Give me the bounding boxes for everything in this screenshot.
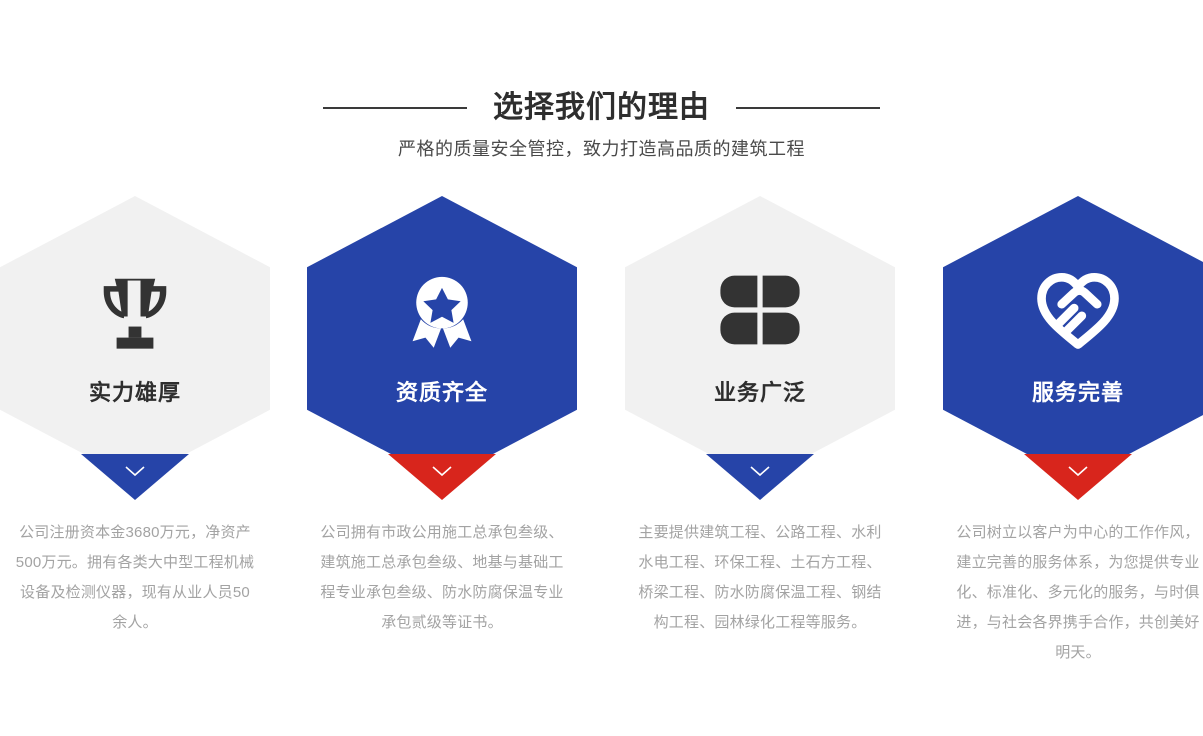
card-pointer-2 bbox=[388, 454, 496, 500]
card-pointer-3 bbox=[706, 454, 814, 500]
heart-handshake-icon bbox=[1026, 258, 1130, 362]
card-pointer-1 bbox=[81, 454, 189, 500]
title-rule-right-icon bbox=[736, 107, 880, 109]
card-label-1: 实力雄厚 bbox=[0, 378, 270, 408]
card-label-4: 服务完善 bbox=[943, 378, 1203, 408]
hexagon-wrap-4: 服务完善 bbox=[943, 196, 1203, 481]
feature-card-1[interactable]: 实力雄厚 公司注册资本金3680万元，净资产500万元。拥有各类大中型工程机械设… bbox=[0, 196, 270, 696]
hexagon-wrap-1: 实力雄厚 bbox=[0, 196, 270, 481]
hexagon-wrap-2: 资质齐全 bbox=[307, 196, 577, 481]
medal-star-icon bbox=[390, 258, 494, 362]
feature-cards: 实力雄厚 公司注册资本金3680万元，净资产500万元。拥有各类大中型工程机械设… bbox=[0, 196, 1203, 696]
feature-card-3[interactable]: 业务广泛 主要提供建筑工程、公路工程、水利水电工程、环保工程、土石方工程、桥梁工… bbox=[625, 196, 895, 696]
card-label-3: 业务广泛 bbox=[625, 378, 895, 408]
card-description-4: 公司树立以客户为中心的工作作风，建立完善的服务体系，为您提供专业化、标准化、多元… bbox=[956, 518, 1200, 668]
card-pointer-4 bbox=[1024, 454, 1132, 500]
title-rule-left-icon bbox=[323, 107, 467, 109]
page-subtitle: 严格的质量安全管控，致力打造高品质的建筑工程 bbox=[0, 136, 1203, 162]
card-description-1: 公司注册资本金3680万元，净资产500万元。拥有各类大中型工程机械设备及检测仪… bbox=[13, 518, 257, 638]
feature-card-2[interactable]: 资质齐全 公司拥有市政公用施工总承包叁级、建筑施工总承包叁级、地基与基础工程专业… bbox=[307, 196, 577, 696]
clover-icon bbox=[708, 258, 812, 362]
card-description-2: 公司拥有市政公用施工总承包叁级、建筑施工总承包叁级、地基与基础工程专业承包叁级、… bbox=[320, 518, 564, 638]
page-title: 选择我们的理由 bbox=[493, 88, 710, 128]
trophy-icon bbox=[83, 258, 187, 362]
hexagon-wrap-3: 业务广泛 bbox=[625, 196, 895, 481]
feature-card-4[interactable]: 服务完善 公司树立以客户为中心的工作作风，建立完善的服务体系，为您提供专业化、标… bbox=[943, 196, 1203, 696]
card-description-3: 主要提供建筑工程、公路工程、水利水电工程、环保工程、土石方工程、桥梁工程、防水防… bbox=[638, 518, 882, 638]
card-label-2: 资质齐全 bbox=[307, 378, 577, 408]
title-row: 选择我们的理由 bbox=[0, 88, 1203, 128]
